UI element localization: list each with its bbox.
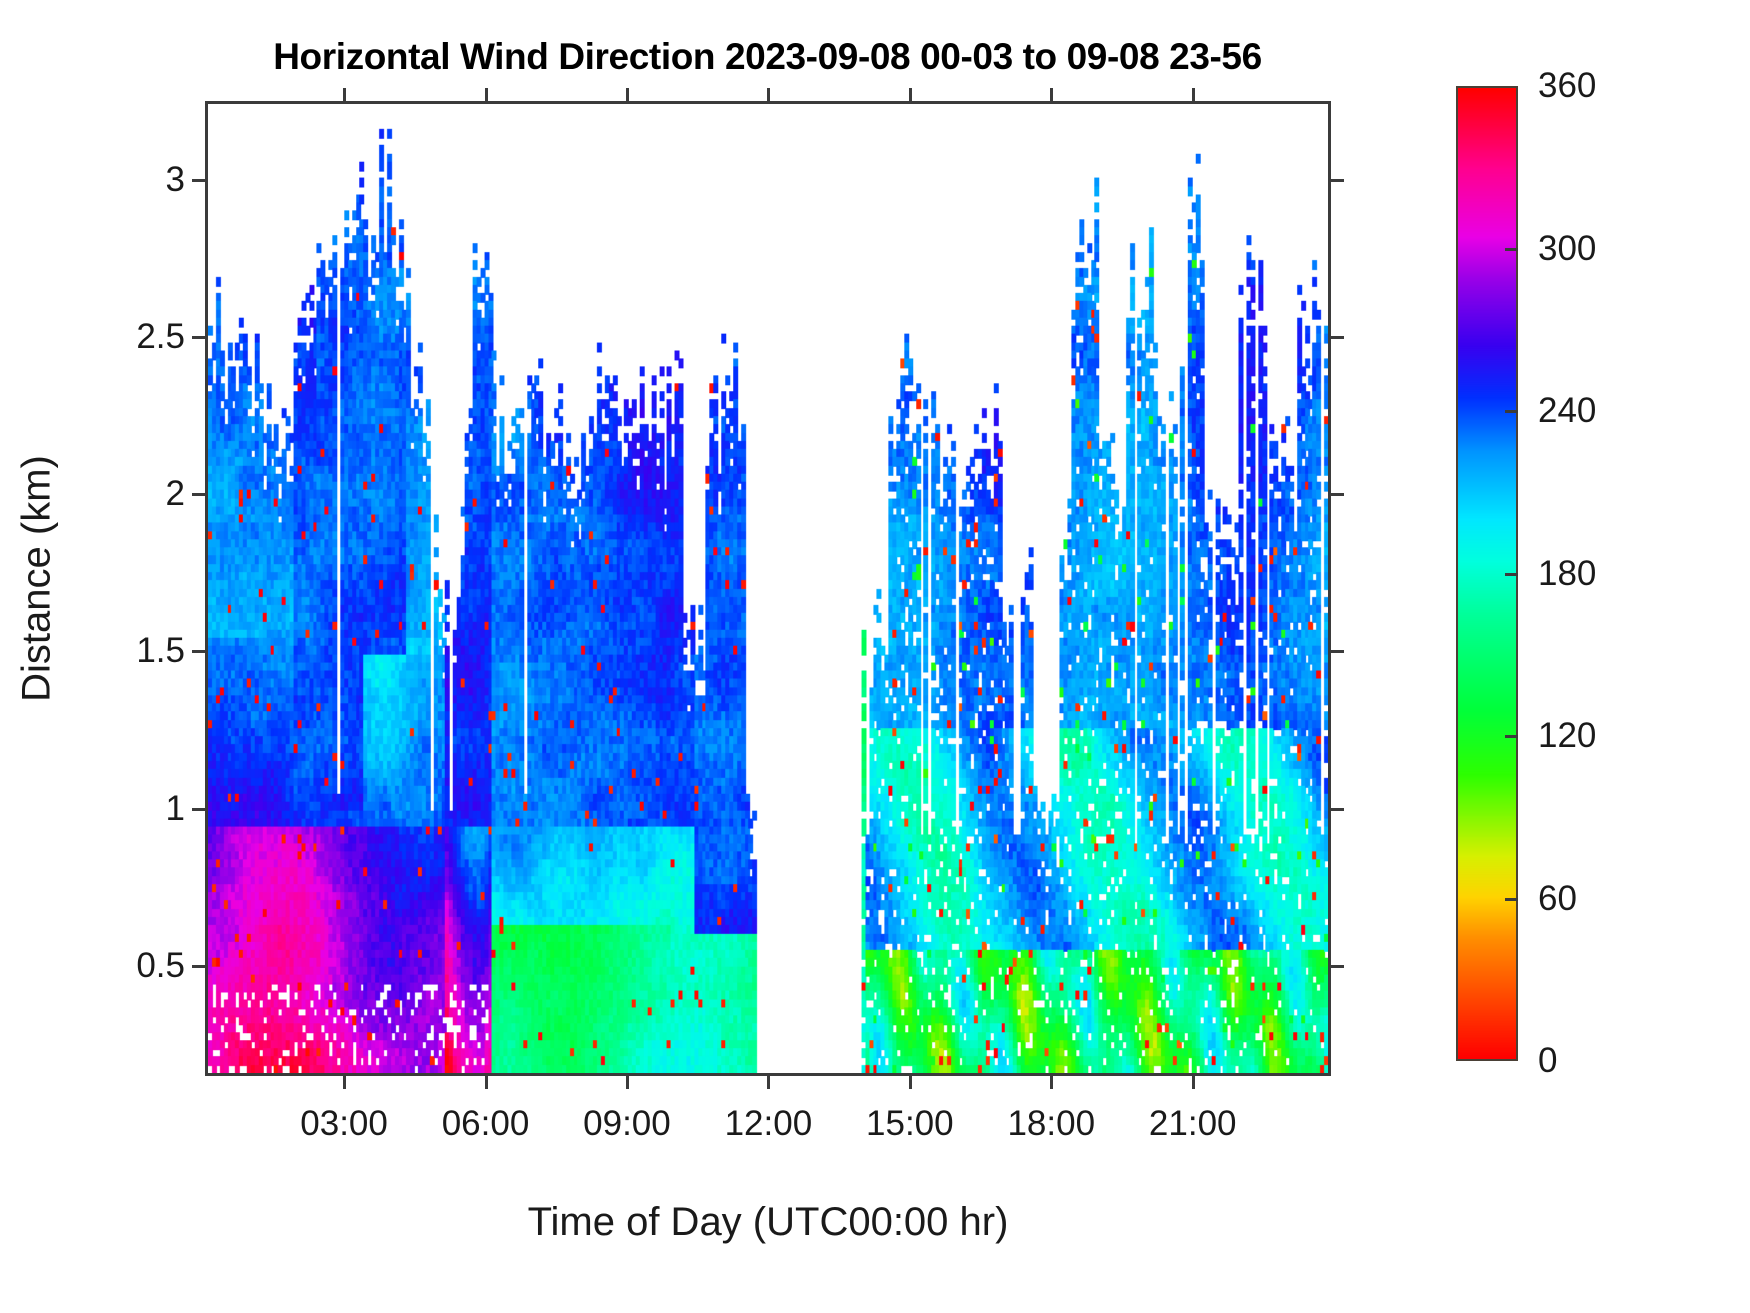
y-tick-right [1331,336,1344,339]
y-tick [192,808,205,811]
chart-title: Horizontal Wind Direction 2023-09-08 00-… [205,36,1330,78]
x-tick-top [1050,88,1053,101]
x-tick-label: 12:00 [725,1104,813,1144]
y-tick-right [1331,808,1344,811]
y-tick [192,493,205,496]
x-tick-label: 03:00 [300,1104,388,1144]
x-tick-top [626,88,629,101]
colorbar-tick-label: 120 [1538,716,1596,756]
colorbar-tick-label: 0 [1538,1041,1557,1081]
y-axis-title: Distance (km) [15,299,60,859]
colorbar-tick-label: 360 [1538,66,1596,106]
y-tick-right [1331,493,1344,496]
x-tick-top [343,88,346,101]
y-tick-right [1331,965,1344,968]
colorbar-tick-label: 240 [1538,391,1596,431]
colorbar-tick [1505,410,1518,413]
x-tick-label: 09:00 [583,1104,671,1144]
colorbar-tick [1505,573,1518,576]
colorbar-tick [1505,735,1518,738]
y-tick-right [1331,650,1344,653]
colorbar-tick-label: 300 [1538,229,1596,269]
y-tick [192,650,205,653]
y-tick-label: 3 [35,160,185,200]
x-axis-title: Time of Day (UTC00:00 hr) [205,1200,1331,1245]
x-tick [626,1076,629,1089]
figure-canvas: Horizontal Wind Direction 2023-09-08 00-… [0,0,1750,1313]
y-tick-label: 0.5 [35,946,185,986]
colorbar-tick-label: 60 [1538,879,1577,919]
colorbar-tick-label: 180 [1538,554,1596,594]
x-tick [343,1076,346,1089]
x-tick-label: 06:00 [442,1104,530,1144]
x-tick [1050,1076,1053,1089]
x-tick-label: 15:00 [866,1104,954,1144]
heatmap-image [208,104,1328,1073]
x-tick [485,1076,488,1089]
x-tick-top [909,88,912,101]
x-tick-label: 21:00 [1149,1104,1237,1144]
plot-axes[interactable] [205,101,1331,1076]
x-tick-top [767,88,770,101]
x-tick [767,1076,770,1089]
x-tick-top [485,88,488,101]
x-tick [1192,1076,1195,1089]
x-tick-label: 18:00 [1007,1104,1095,1144]
x-tick [909,1076,912,1089]
colorbar-tick [1505,248,1518,251]
y-tick-right [1331,179,1344,182]
x-tick-top [1192,88,1195,101]
y-tick [192,179,205,182]
colorbar-tick [1505,898,1518,901]
y-tick [192,336,205,339]
y-tick [192,965,205,968]
